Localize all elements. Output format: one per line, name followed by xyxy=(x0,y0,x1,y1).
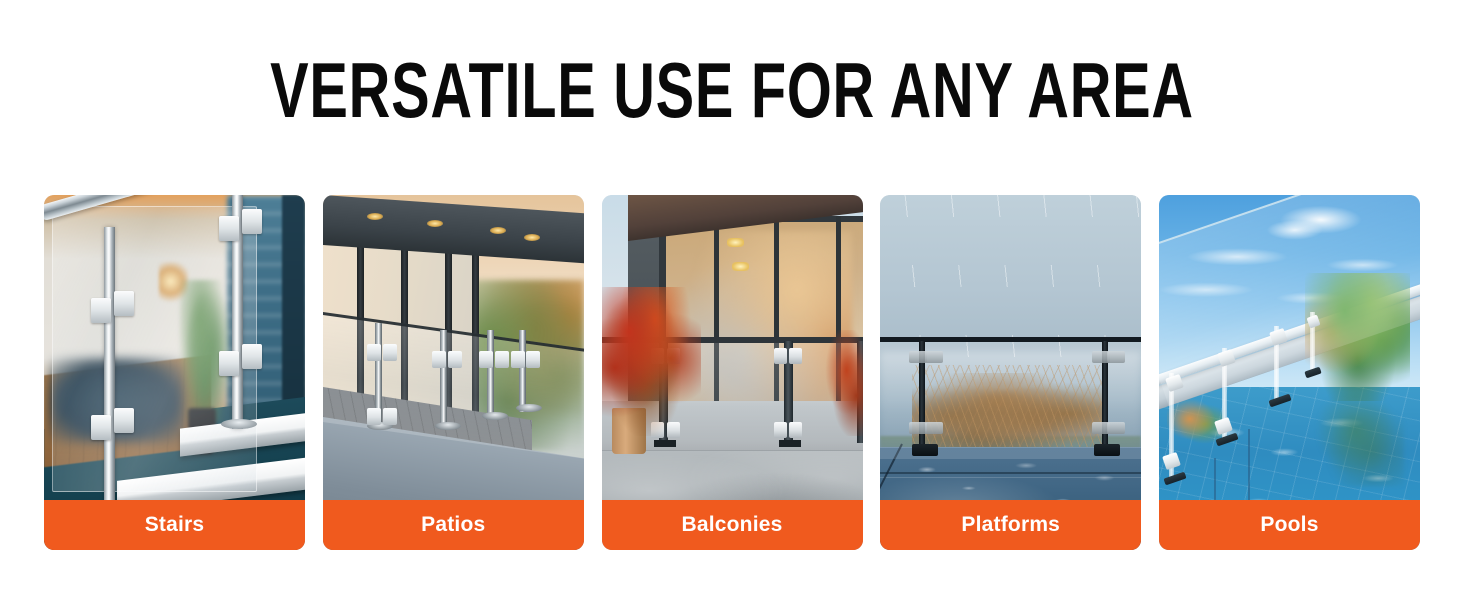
page-title: VERSATILE USE FOR ANY AREA xyxy=(190,48,1273,132)
card-label-platforms: Platforms xyxy=(880,500,1141,550)
use-case-card-platforms[interactable]: Platforms xyxy=(880,195,1141,550)
card-label-pools: Pools xyxy=(1159,500,1420,550)
card-label-stairs: Stairs xyxy=(44,500,305,550)
use-case-card-row: Stairs xyxy=(44,195,1420,550)
platforms-photo xyxy=(880,195,1141,550)
pools-photo xyxy=(1159,195,1420,550)
use-case-card-stairs[interactable]: Stairs xyxy=(44,195,305,550)
use-case-card-balconies[interactable]: Balconies xyxy=(602,195,863,550)
balconies-photo xyxy=(602,195,863,550)
card-label-patios: Patios xyxy=(323,500,584,550)
card-label-balconies: Balconies xyxy=(602,500,863,550)
stairs-photo xyxy=(44,195,305,550)
use-case-card-pools[interactable]: Pools xyxy=(1159,195,1420,550)
use-case-card-patios[interactable]: Patios xyxy=(323,195,584,550)
patios-photo xyxy=(323,195,584,550)
